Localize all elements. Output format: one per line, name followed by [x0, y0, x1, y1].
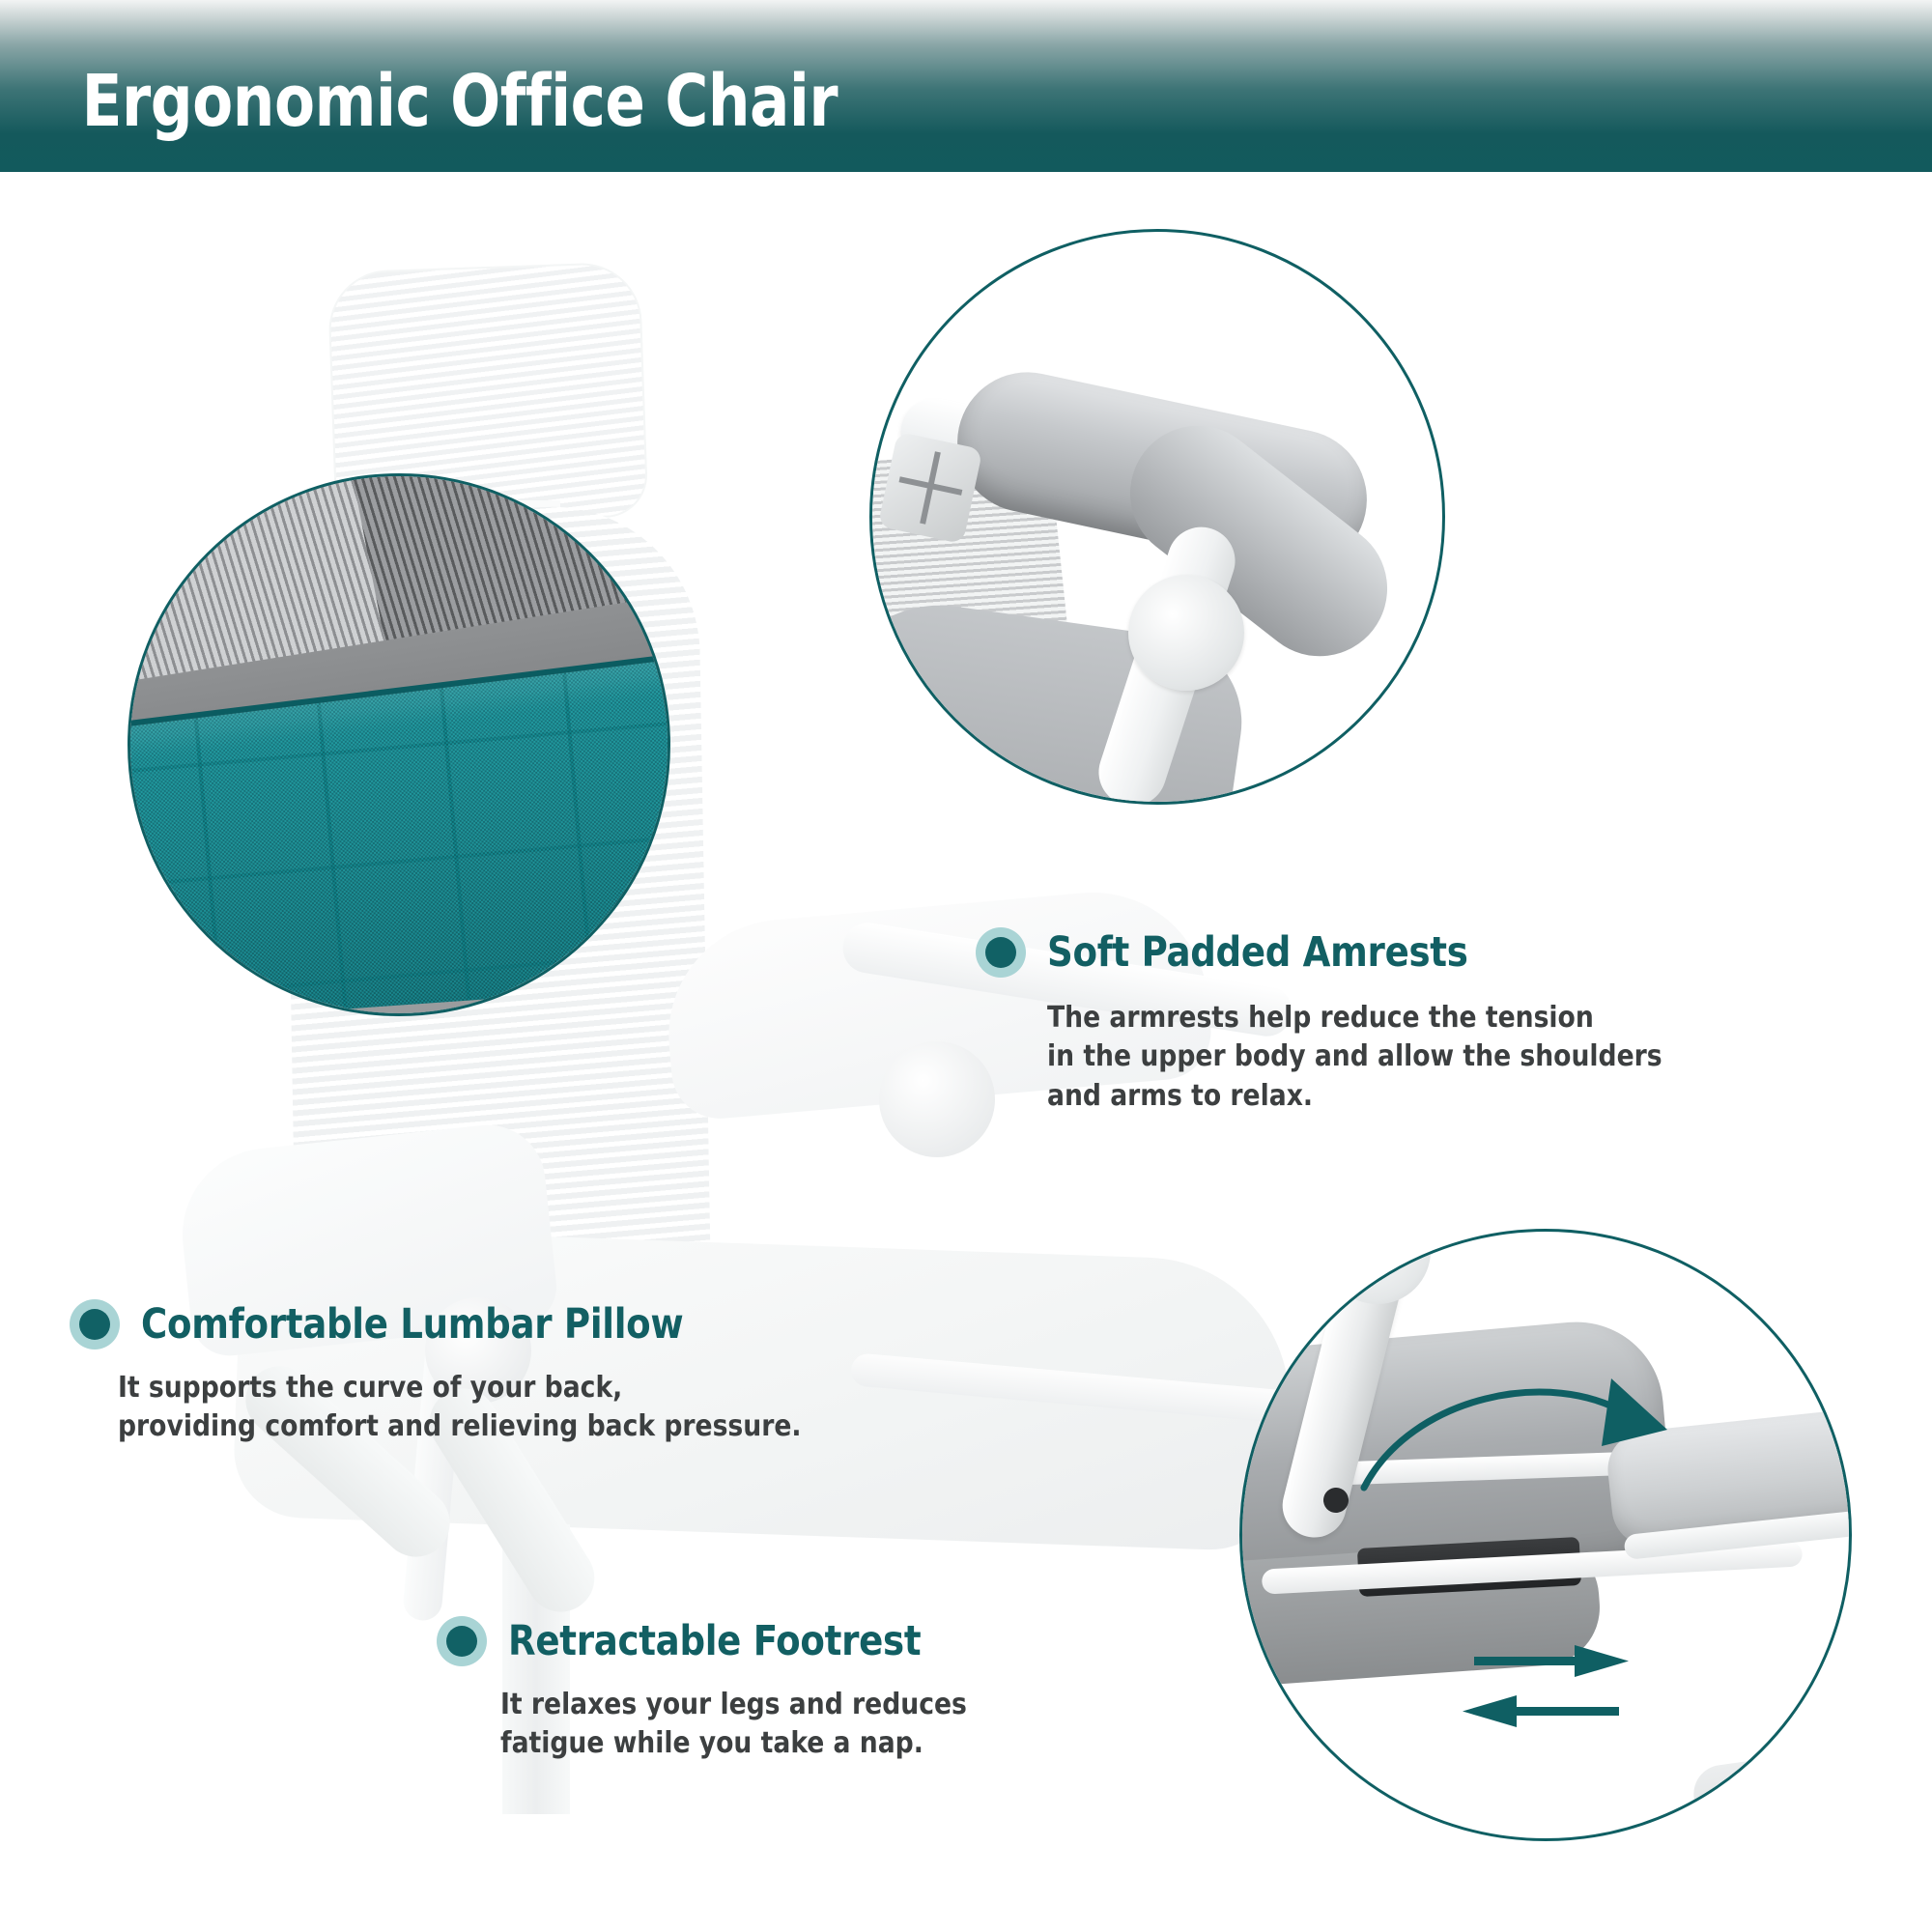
filled-circle-bullet-icon — [976, 927, 1026, 978]
footrest-motion-arrows — [1242, 1232, 1849, 1838]
callout-circle-armrest — [869, 229, 1445, 805]
infographic-canvas: Ergonomic Office Chair — [0, 0, 1932, 1932]
filled-circle-bullet-icon — [437, 1616, 487, 1666]
feature-armrest-heading: Soft Padded Amrests — [976, 927, 1681, 978]
feature-lumbar-body: It supports the curve of your back, prov… — [118, 1369, 802, 1447]
header-banner: Ergonomic Office Chair — [0, 0, 1932, 172]
page-title: Ergonomic Office Chair — [0, 66, 838, 172]
feature-armrest-title: Soft Padded Amrests — [1047, 932, 1468, 974]
armrest-pivot-disc — [1128, 575, 1244, 691]
callout-circle-lumbar — [128, 473, 670, 1016]
filled-circle-bullet-icon — [70, 1299, 120, 1350]
feature-armrest-body: The armrests help reduce the tension in … — [1047, 999, 1662, 1116]
feature-lumbar: Comfortable Lumbar Pillow It supports th… — [70, 1299, 822, 1447]
callout-circle-footrest — [1239, 1229, 1852, 1841]
slide-in-arrow-icon — [1463, 1695, 1619, 1727]
feature-footrest: Retractable Footrest It relaxes your leg… — [437, 1616, 981, 1764]
curved-rotation-arrow-icon — [1364, 1392, 1629, 1488]
slide-out-arrow-icon — [1474, 1645, 1629, 1677]
curved-arrow-head-icon — [1602, 1378, 1667, 1446]
feature-footrest-body: It relaxes your legs and reduces fatigue… — [500, 1686, 967, 1764]
feature-footrest-heading: Retractable Footrest — [437, 1616, 981, 1666]
feature-lumbar-heading: Comfortable Lumbar Pillow — [70, 1299, 822, 1350]
feature-footrest-title: Retractable Footrest — [508, 1621, 921, 1662]
feature-lumbar-title: Comfortable Lumbar Pillow — [141, 1304, 683, 1346]
feature-armrest: Soft Padded Amrests The armrests help re… — [976, 927, 1681, 1116]
